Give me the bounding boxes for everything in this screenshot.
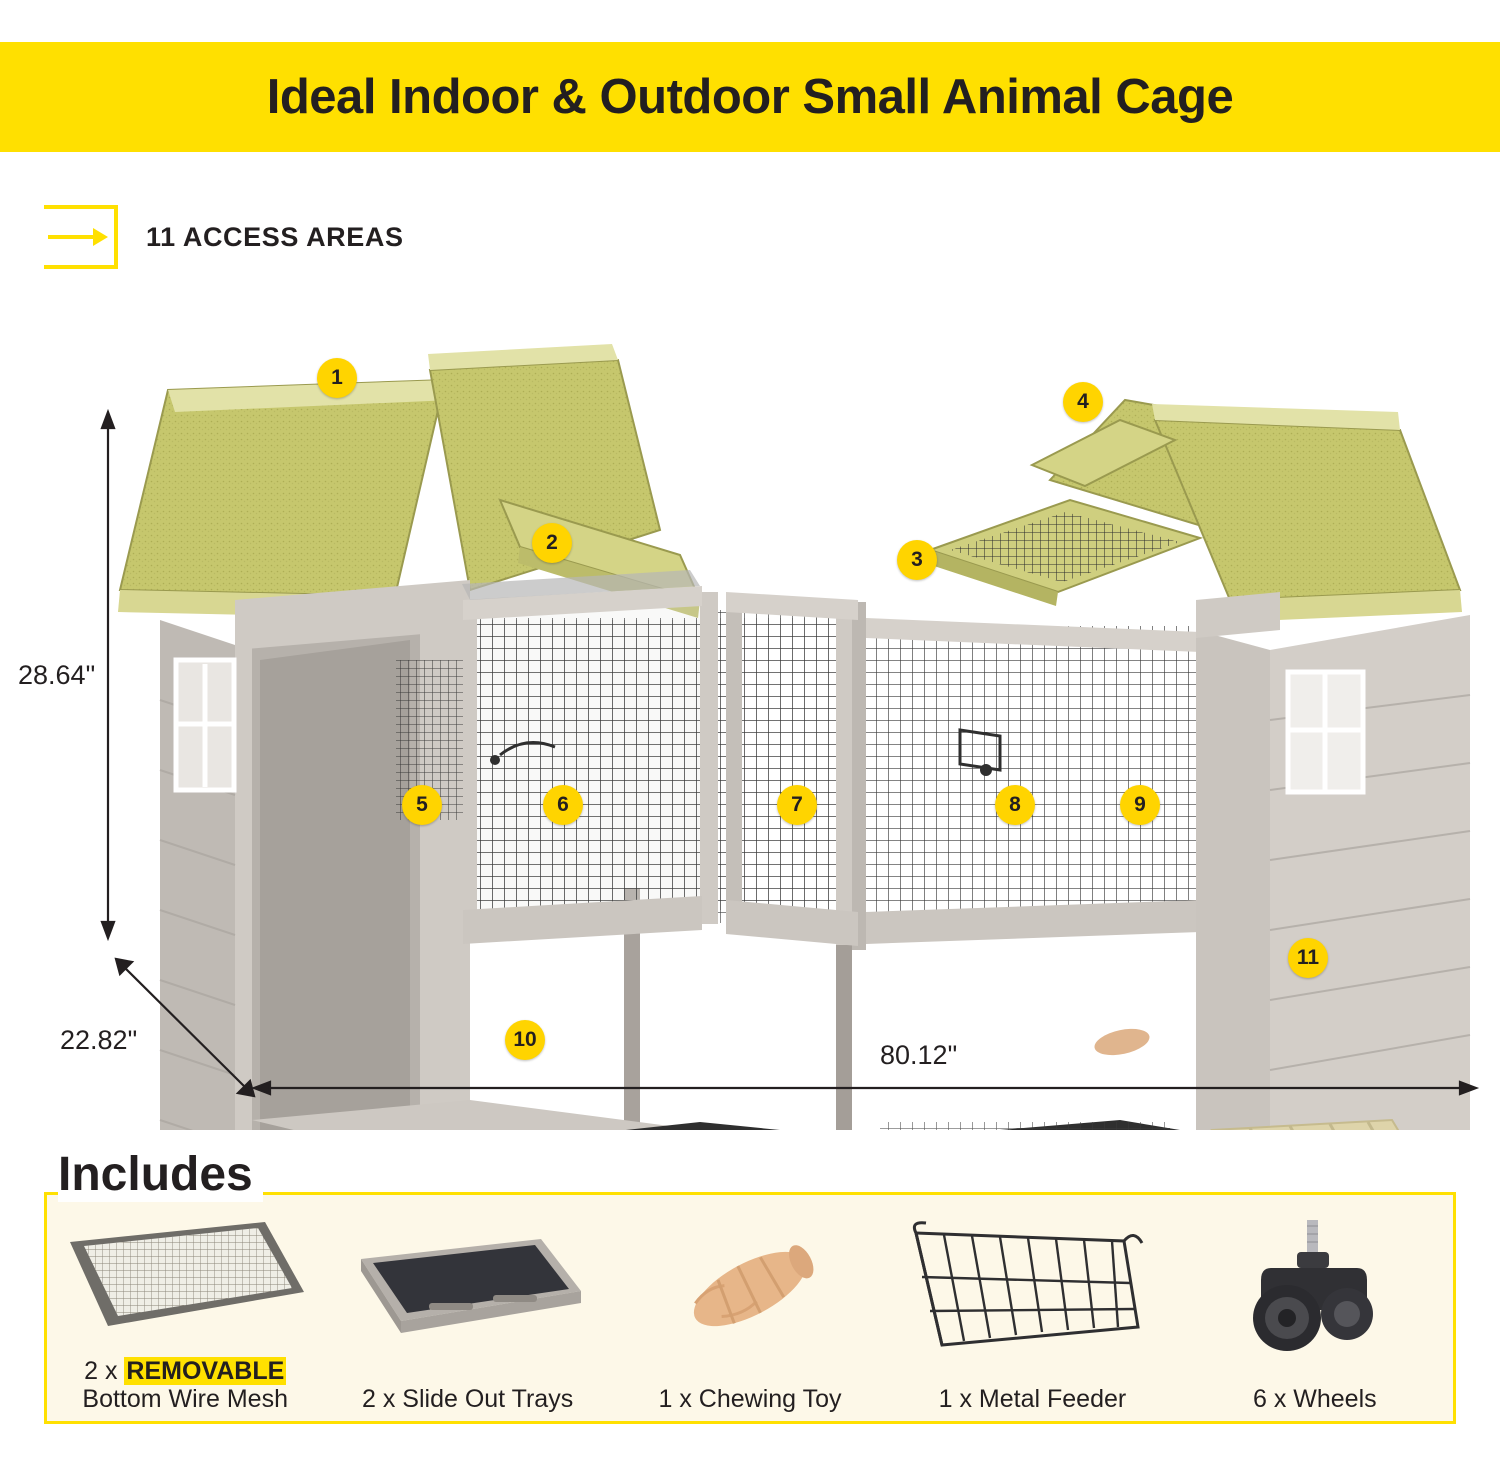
include-item-wheels: 6 x Wheels: [1174, 1192, 1456, 1424]
include-item-trays: 2 x Slide Out Trays: [326, 1192, 608, 1424]
metal-feeder-icon: [891, 1192, 1173, 1385]
wheel-icon: [1174, 1192, 1456, 1385]
access-areas-row: 11 ACCESS AREAS: [44, 205, 404, 269]
right-house-body: [1196, 615, 1470, 1130]
page-title: Ideal Indoor & Outdoor Small Animal Cage: [267, 69, 1233, 125]
arrow-right-icon: [44, 205, 118, 269]
callout-badge-1[interactable]: 1: [317, 358, 357, 398]
wire-mesh-qty: 2 x: [84, 1357, 124, 1385]
include-caption-wire-mesh: 2 x REMOVABLE Bottom Wire Mesh: [82, 1357, 288, 1415]
dimension-height-label: 28.64": [18, 660, 95, 691]
callout-badge-5[interactable]: 5: [402, 785, 442, 825]
product-illustration: 28.64" 22.82" 80.12" 1 2 3 4 5 6 7 8 9 1…: [0, 300, 1500, 1130]
callout-badge-8[interactable]: 8: [995, 785, 1035, 825]
dimension-depth-label: 22.82": [60, 1025, 137, 1056]
wire-mesh-line2: Bottom Wire Mesh: [82, 1385, 288, 1414]
right-roof: [928, 400, 1462, 638]
wire-mesh-highlight: REMOVABLE: [124, 1357, 286, 1385]
callout-badge-2[interactable]: 2: [532, 523, 572, 563]
callout-badge-7[interactable]: 7: [777, 785, 817, 825]
chew-toy-icon: [609, 1192, 891, 1385]
include-item-chew-toy: 1 x Chewing Toy: [609, 1192, 891, 1424]
include-caption-chew-toy: 1 x Chewing Toy: [659, 1385, 842, 1414]
callout-badge-3[interactable]: 3: [897, 540, 937, 580]
include-caption-wheels: 6 x Wheels: [1253, 1385, 1377, 1414]
include-item-wire-mesh: 2 x REMOVABLE Bottom Wire Mesh: [44, 1192, 326, 1424]
include-caption-trays: 2 x Slide Out Trays: [362, 1385, 573, 1414]
includes-items-row: 2 x REMOVABLE Bottom Wire Mesh 2 x Slide…: [44, 1192, 1456, 1424]
callout-badge-9[interactable]: 9: [1120, 785, 1160, 825]
callout-badge-6[interactable]: 6: [543, 785, 583, 825]
callout-badge-4[interactable]: 4: [1063, 382, 1103, 422]
access-areas-label: 11 ACCESS AREAS: [146, 222, 404, 253]
callout-badge-10[interactable]: 10: [505, 1020, 545, 1060]
include-caption-feeder: 1 x Metal Feeder: [939, 1385, 1127, 1414]
wire-mesh-icon: [44, 1192, 326, 1357]
tray-icon: [326, 1192, 608, 1385]
header-banner: Ideal Indoor & Outdoor Small Animal Cage: [0, 42, 1500, 152]
hutch-diagram-svg: [0, 300, 1500, 1130]
dimension-width-label: 80.12": [880, 1040, 957, 1071]
include-item-feeder: 1 x Metal Feeder: [891, 1192, 1173, 1424]
callout-badge-11[interactable]: 11: [1288, 938, 1328, 978]
